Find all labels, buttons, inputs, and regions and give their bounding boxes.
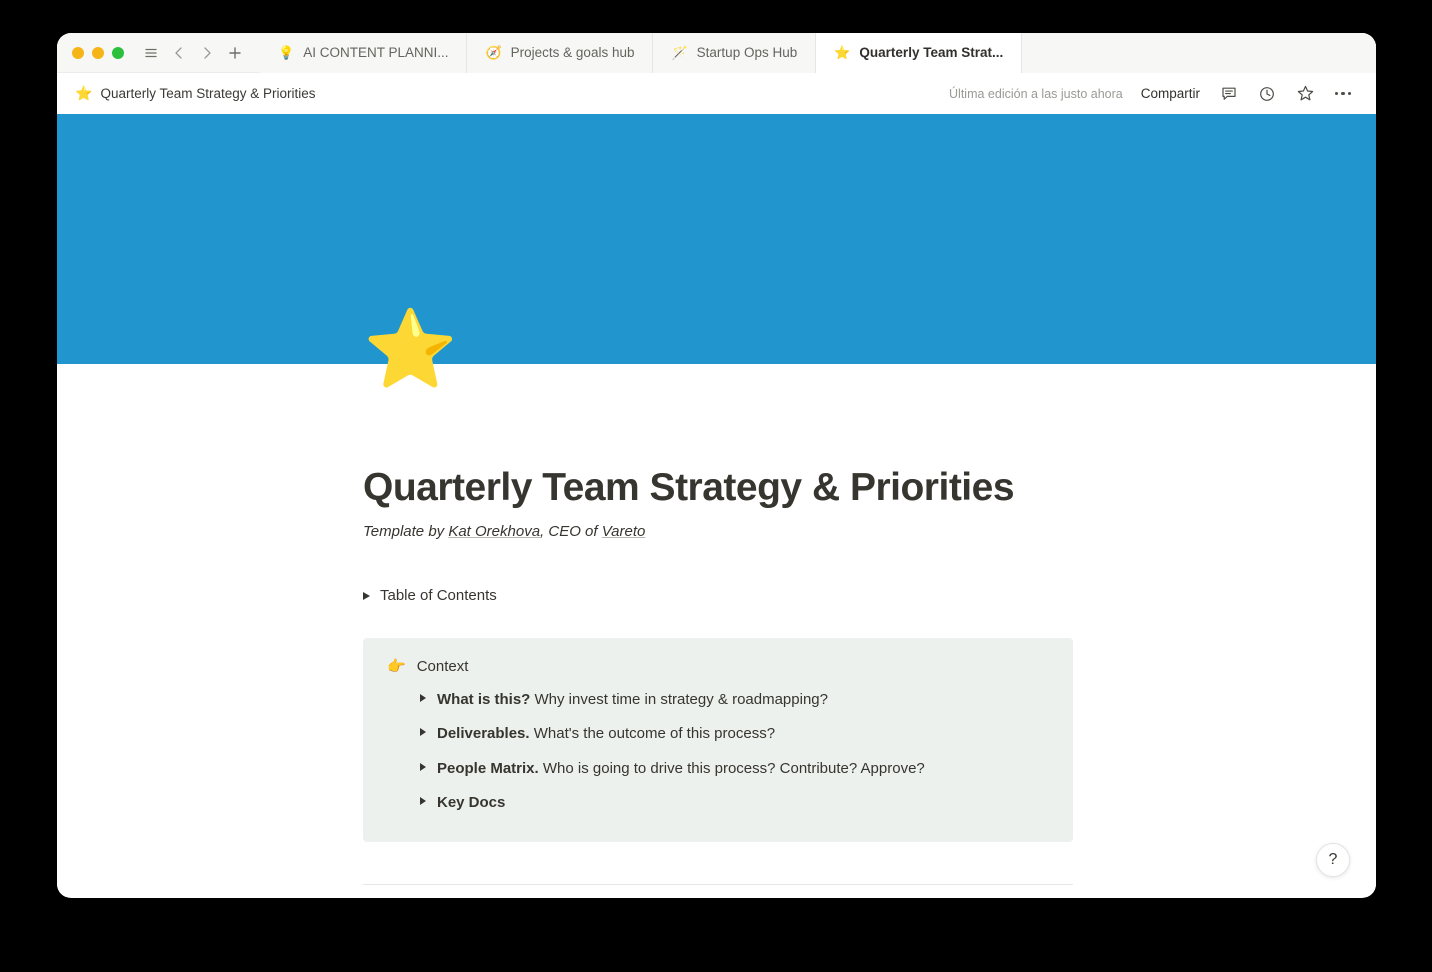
section-divider bbox=[363, 884, 1073, 885]
callout-toggle-list: What is this? Why invest time in strateg… bbox=[387, 683, 1049, 820]
page-title[interactable]: Quarterly Team Strategy & Priorities bbox=[363, 364, 1336, 510]
toggle-item-text: Deliverables. What's the outcome of this… bbox=[437, 724, 775, 744]
toggle-item-text: People Matrix. Who is going to drive thi… bbox=[437, 759, 925, 779]
star-icon: ⭐ bbox=[75, 85, 92, 102]
table-of-contents-label: Table of Contents bbox=[380, 587, 497, 604]
toggle-item-rest: Why invest time in strategy & roadmappin… bbox=[530, 691, 828, 708]
toggle-item-people-matrix[interactable]: People Matrix. Who is going to drive thi… bbox=[420, 752, 1049, 786]
toggle-item-text: Key Docs bbox=[437, 793, 505, 813]
tab-strip: 💡 AI CONTENT PLANNI... 🧭 Projects & goal… bbox=[260, 33, 1376, 73]
tab-quarterly-team-strategy[interactable]: ⭐ Quarterly Team Strat... bbox=[815, 33, 1021, 73]
byline-middle: , CEO of bbox=[540, 523, 602, 540]
magic-wand-icon: 🪄 bbox=[671, 46, 687, 59]
tab-label: Projects & goals hub bbox=[511, 45, 635, 60]
chevron-right-icon[interactable] bbox=[420, 797, 426, 805]
page-body: ⭐ Quarterly Team Strategy & Priorities T… bbox=[57, 114, 1376, 897]
pointing-hand-icon: 👉 bbox=[387, 657, 406, 675]
context-callout: 👉 Context What is this? Why invest time … bbox=[363, 638, 1073, 842]
toggle-item-key-docs[interactable]: Key Docs bbox=[420, 786, 1049, 820]
toggle-item-rest: What's the outcome of this process? bbox=[530, 725, 775, 742]
tab-projects-goals-hub[interactable]: 🧭 Projects & goals hub bbox=[466, 33, 652, 73]
chevron-right-icon[interactable] bbox=[420, 694, 426, 702]
traffic-lights bbox=[57, 47, 124, 59]
tab-startup-ops-hub[interactable]: 🪄 Startup Ops Hub bbox=[652, 33, 815, 73]
callout-header: 👉 Context bbox=[387, 657, 1049, 675]
sidebar-menu-icon[interactable] bbox=[138, 40, 164, 66]
history-clock-icon[interactable] bbox=[1256, 83, 1278, 105]
toggle-item-what-is-this[interactable]: What is this? Why invest time in strateg… bbox=[420, 683, 1049, 717]
page-icon-star[interactable]: ⭐ bbox=[363, 312, 458, 388]
tab-label: Quarterly Team Strat... bbox=[859, 45, 1003, 60]
table-of-contents-toggle[interactable]: Table of Contents bbox=[363, 587, 1336, 604]
toggle-item-rest: Who is going to drive this process? Cont… bbox=[539, 760, 925, 777]
more-options-icon[interactable] bbox=[1332, 83, 1354, 105]
chevron-right-icon[interactable] bbox=[420, 763, 426, 771]
comment-icon[interactable] bbox=[1218, 83, 1240, 105]
navigation-controls bbox=[124, 40, 248, 66]
callout-title: Context bbox=[417, 658, 469, 675]
toggle-item-text: What is this? Why invest time in strateg… bbox=[437, 690, 828, 710]
back-arrow-icon[interactable] bbox=[166, 40, 192, 66]
byline-company-link[interactable]: Vareto bbox=[602, 523, 646, 540]
star-icon: ⭐ bbox=[834, 46, 850, 59]
last-edited-label: Última edición a las justo ahora bbox=[949, 87, 1123, 101]
share-button[interactable]: Compartir bbox=[1139, 82, 1202, 105]
tab-ai-content-planning[interactable]: 💡 AI CONTENT PLANNI... bbox=[260, 33, 466, 73]
tab-label: Startup Ops Hub bbox=[697, 45, 798, 60]
document-header: ⭐ Quarterly Team Strategy & Priorities Ú… bbox=[57, 73, 1376, 114]
toggle-item-strong: Key Docs bbox=[437, 794, 505, 811]
forward-arrow-icon[interactable] bbox=[194, 40, 220, 66]
close-window-button[interactable] bbox=[72, 47, 84, 59]
toggle-item-deliverables[interactable]: Deliverables. What's the outcome of this… bbox=[420, 717, 1049, 751]
tab-bar: 💡 AI CONTENT PLANNI... 🧭 Projects & goal… bbox=[57, 33, 1376, 73]
lightbulb-icon: 💡 bbox=[278, 46, 294, 59]
maximize-window-button[interactable] bbox=[112, 47, 124, 59]
byline-prefix: Template by bbox=[363, 523, 448, 540]
chevron-right-icon[interactable] bbox=[363, 592, 370, 600]
page-cover-image[interactable] bbox=[57, 114, 1376, 364]
minimize-window-button[interactable] bbox=[92, 47, 104, 59]
chevron-right-icon[interactable] bbox=[420, 728, 426, 736]
help-button[interactable]: ? bbox=[1316, 843, 1350, 877]
toggle-item-strong: Deliverables. bbox=[437, 725, 530, 742]
breadcrumb-title: Quarterly Team Strategy & Priorities bbox=[100, 86, 315, 101]
tab-label: AI CONTENT PLANNI... bbox=[303, 45, 448, 60]
byline-author-link[interactable]: Kat Orekhova bbox=[448, 523, 540, 540]
browser-window: 💡 AI CONTENT PLANNI... 🧭 Projects & goal… bbox=[57, 33, 1376, 898]
new-tab-plus-icon[interactable] bbox=[222, 40, 248, 66]
breadcrumb[interactable]: ⭐ Quarterly Team Strategy & Priorities bbox=[75, 85, 316, 102]
compass-icon: 🧭 bbox=[485, 46, 501, 59]
toggle-item-strong: People Matrix. bbox=[437, 760, 539, 777]
page-byline: Template by Kat Orekhova, CEO of Vareto bbox=[363, 523, 1336, 540]
header-actions: Última edición a las justo ahora Compart… bbox=[949, 82, 1354, 105]
toggle-item-strong: What is this? bbox=[437, 691, 530, 708]
tab-strip-empty-area bbox=[1021, 33, 1376, 73]
page-content: ⭐ Quarterly Team Strategy & Priorities T… bbox=[57, 364, 1376, 897]
star-favorite-icon[interactable] bbox=[1294, 83, 1316, 105]
